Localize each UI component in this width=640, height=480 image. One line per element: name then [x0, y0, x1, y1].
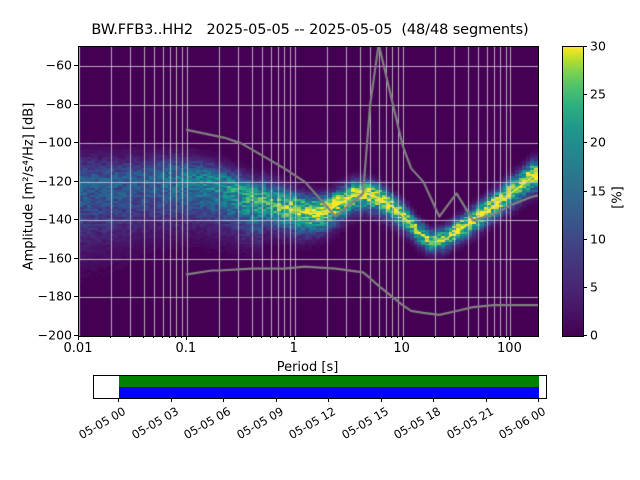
x-tick-mark-minor — [270, 336, 271, 338]
colorbar-tick-mark — [583, 142, 587, 143]
timeline-tick-mark — [433, 398, 434, 402]
timeline-tick-mark — [276, 398, 277, 402]
timeline-tick-label: 05-05 15 — [332, 404, 391, 446]
x-tick-mark-minor — [251, 336, 252, 338]
x-tick-mark-minor — [453, 336, 454, 338]
x-tick-mark-minor — [499, 336, 500, 338]
colorbar-tick-label: 20 — [590, 135, 606, 150]
psd-coverage-bar — [119, 387, 539, 398]
x-tick-mark-minor — [175, 336, 176, 338]
timeline-tick-label: 05-05 06 — [174, 404, 233, 446]
timeline-tick-label: 05-05 12 — [279, 404, 338, 446]
x-tick-label: 1 — [290, 341, 298, 356]
x-tick-mark-minor — [181, 336, 182, 338]
noise-model-overlay — [79, 47, 538, 336]
colorbar-tick-label: 15 — [590, 183, 606, 198]
timeline-tick-mark — [171, 398, 172, 402]
y-tick-mark — [74, 142, 78, 143]
colorbar-tick-mark — [583, 94, 587, 95]
x-tick-mark-minor — [277, 336, 278, 338]
coverage-timeline[interactable] — [93, 375, 547, 399]
x-tick-mark-minor — [385, 336, 386, 338]
timeline-tick-mark — [381, 398, 382, 402]
x-tick-mark-minor — [326, 336, 327, 338]
colorbar-tick-mark — [583, 191, 587, 192]
colorbar-tick-label: 30 — [590, 39, 606, 54]
x-tick-mark-minor — [505, 336, 506, 338]
x-tick-mark-major — [509, 336, 510, 340]
timeline-tick-label: 05-06 00 — [489, 404, 548, 446]
x-tick-mark-minor — [129, 336, 130, 338]
timeline-tick-label: 05-05 00 — [69, 404, 128, 446]
data-coverage-bar — [119, 376, 539, 387]
x-tick-mark-major — [294, 336, 295, 340]
x-tick-label: 0.01 — [64, 341, 93, 356]
x-tick-mark-minor — [110, 336, 111, 338]
x-tick-mark-minor — [369, 336, 370, 338]
x-tick-label: 100 — [497, 341, 522, 356]
timeline-tick-mark — [486, 398, 487, 402]
x-tick-mark-minor — [391, 336, 392, 338]
x-tick-mark-minor — [434, 336, 435, 338]
colorbar-tick-label: 25 — [590, 87, 606, 102]
colorbar-label: [%] — [611, 148, 626, 248]
y-tick-mark — [74, 258, 78, 259]
x-tick-mark-minor — [218, 336, 219, 338]
colorbar-tick-mark — [583, 46, 587, 47]
colorbar[interactable] — [562, 46, 584, 337]
timeline-tick-label: 05-05 03 — [122, 404, 181, 446]
page-title: BW.FFB3..HH2 2025-05-05 -- 2025-05-05 (4… — [0, 22, 620, 38]
x-tick-mark-minor — [486, 336, 487, 338]
y-tick-mark — [74, 104, 78, 105]
colorbar-tick-mark — [583, 335, 587, 336]
x-tick-mark-minor — [289, 336, 290, 338]
timeline-tick-mark — [118, 398, 119, 402]
x-tick-label: 10 — [393, 341, 410, 356]
timeline-tick-mark — [223, 398, 224, 402]
colorbar-tick-mark — [583, 239, 587, 240]
x-tick-mark-minor — [143, 336, 144, 338]
colorbar-tick-label: 10 — [590, 231, 606, 246]
x-tick-mark-minor — [467, 336, 468, 338]
x-tick-mark-major — [78, 336, 79, 340]
x-tick-mark-major — [402, 336, 403, 340]
x-tick-mark-minor — [169, 336, 170, 338]
x-tick-mark-minor — [493, 336, 494, 338]
x-tick-mark-minor — [261, 336, 262, 338]
timeline-tick-label: 05-05 18 — [384, 404, 443, 446]
x-tick-mark-minor — [397, 336, 398, 338]
x-tick-mark-minor — [345, 336, 346, 338]
y-tick-mark — [74, 219, 78, 220]
x-tick-mark-minor — [359, 336, 360, 338]
y-axis-ticks: −60−80−100−120−140−160−180−200 — [8, 46, 72, 335]
colorbar-tick-mark — [583, 287, 587, 288]
x-tick-mark-minor — [162, 336, 163, 338]
y-axis-label: Amplitude [m²/s⁴/Hz] [dB] — [22, 37, 37, 337]
timeline-tick-label: 05-05 21 — [437, 404, 496, 446]
timeline-tick-mark — [538, 398, 539, 402]
y-tick-mark — [74, 181, 78, 182]
x-tick-mark-minor — [153, 336, 154, 338]
x-tick-label: 0.1 — [176, 341, 197, 356]
ppsd-figure: BW.FFB3..HH2 2025-05-05 -- 2025-05-05 (4… — [0, 0, 640, 480]
x-tick-mark-major — [186, 336, 187, 340]
x-tick-mark-minor — [237, 336, 238, 338]
x-axis-label: Period [s] — [78, 360, 537, 375]
ppsd-plot-area[interactable] — [78, 46, 539, 337]
colorbar-tick-label: 5 — [590, 279, 598, 294]
x-tick-mark-minor — [378, 336, 379, 338]
x-tick-mark-minor — [477, 336, 478, 338]
y-tick-mark — [74, 65, 78, 66]
y-tick-mark — [74, 296, 78, 297]
colorbar-tick-label: 0 — [590, 328, 598, 343]
x-tick-mark-minor — [283, 336, 284, 338]
timeline-tick-label: 05-05 09 — [227, 404, 286, 446]
timeline-tick-mark — [328, 398, 329, 402]
